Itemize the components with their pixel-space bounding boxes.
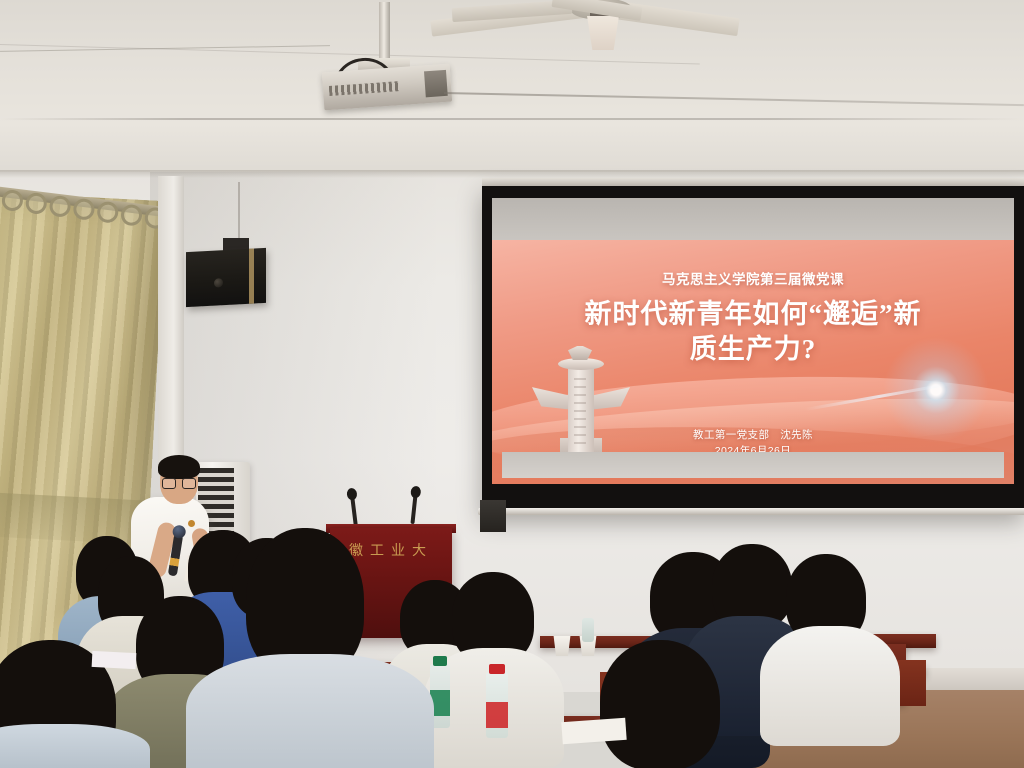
screen-blank-area-bottom bbox=[502, 452, 1004, 478]
projection-screen: 马克思主义学院第三届微党课 新时代新青年如何“邂逅”新 质生产力? 教工第一党支… bbox=[482, 186, 1024, 514]
slide-text-block: 马克思主义学院第三届微党课 新时代新青年如何“邂逅”新 质生产力? bbox=[492, 268, 1014, 366]
curtain-band bbox=[0, 492, 150, 545]
curtain-ring bbox=[72, 198, 95, 221]
glasses-icon bbox=[162, 478, 196, 487]
party-badge-icon bbox=[188, 520, 195, 527]
audience-body bbox=[186, 654, 434, 768]
wall-column bbox=[158, 176, 184, 476]
projector-mount-rod bbox=[379, 2, 390, 62]
glasses-lens bbox=[162, 478, 176, 489]
slide-title-line-1: 新时代新青年如何“邂逅”新 bbox=[518, 297, 988, 332]
monument-wing bbox=[588, 384, 630, 410]
slide-title: 新时代新青年如何“邂逅”新 质生产力? bbox=[492, 297, 1014, 366]
curtain-ring bbox=[25, 192, 48, 215]
curtain-ring bbox=[96, 201, 119, 224]
paper-sheet bbox=[561, 718, 626, 744]
speaker-cable bbox=[238, 182, 240, 240]
curtain-ring bbox=[48, 195, 71, 218]
speaker-cone bbox=[214, 278, 223, 287]
bottle-label bbox=[486, 702, 508, 728]
water-bottle bbox=[582, 618, 594, 642]
slide-title-line-2: 质生产力? bbox=[518, 332, 988, 367]
ceiling-fan-blade-far bbox=[452, 0, 632, 30]
screen-surface: 马克思主义学院第三届微党课 新时代新青年如何“邂逅”新 质生产力? 教工第一党支… bbox=[492, 198, 1014, 484]
audience-body bbox=[760, 626, 900, 746]
screen-blank-area-top bbox=[492, 198, 1014, 240]
curtain-ring bbox=[120, 203, 143, 226]
curtain-ring bbox=[1, 189, 24, 212]
lecture-hall-photo: 马克思主义学院第三届微党课 新时代新青年如何“邂逅”新 质生产力? 教工第一党支… bbox=[0, 0, 1024, 768]
presenter-hair bbox=[158, 455, 200, 479]
presentation-slide: 马克思主义学院第三届微党课 新时代新青年如何“邂逅”新 质生产力? 教工第一党支… bbox=[492, 240, 1014, 484]
bottle-cap bbox=[489, 664, 505, 674]
slide-subtitle: 马克思主义学院第三届微党课 bbox=[492, 268, 1014, 288]
slide-presenter: 教工第一党支部 沈先陈 bbox=[492, 428, 1014, 444]
audience-head bbox=[600, 640, 720, 768]
wall-speaker-icon bbox=[186, 248, 266, 307]
water-bottle bbox=[486, 672, 508, 738]
screen-bottom-bar bbox=[478, 508, 1024, 515]
bottle-cap bbox=[433, 656, 447, 666]
glasses-lens bbox=[182, 478, 196, 489]
paper-sheet bbox=[92, 651, 137, 669]
wall-mounted-panel bbox=[480, 500, 506, 532]
